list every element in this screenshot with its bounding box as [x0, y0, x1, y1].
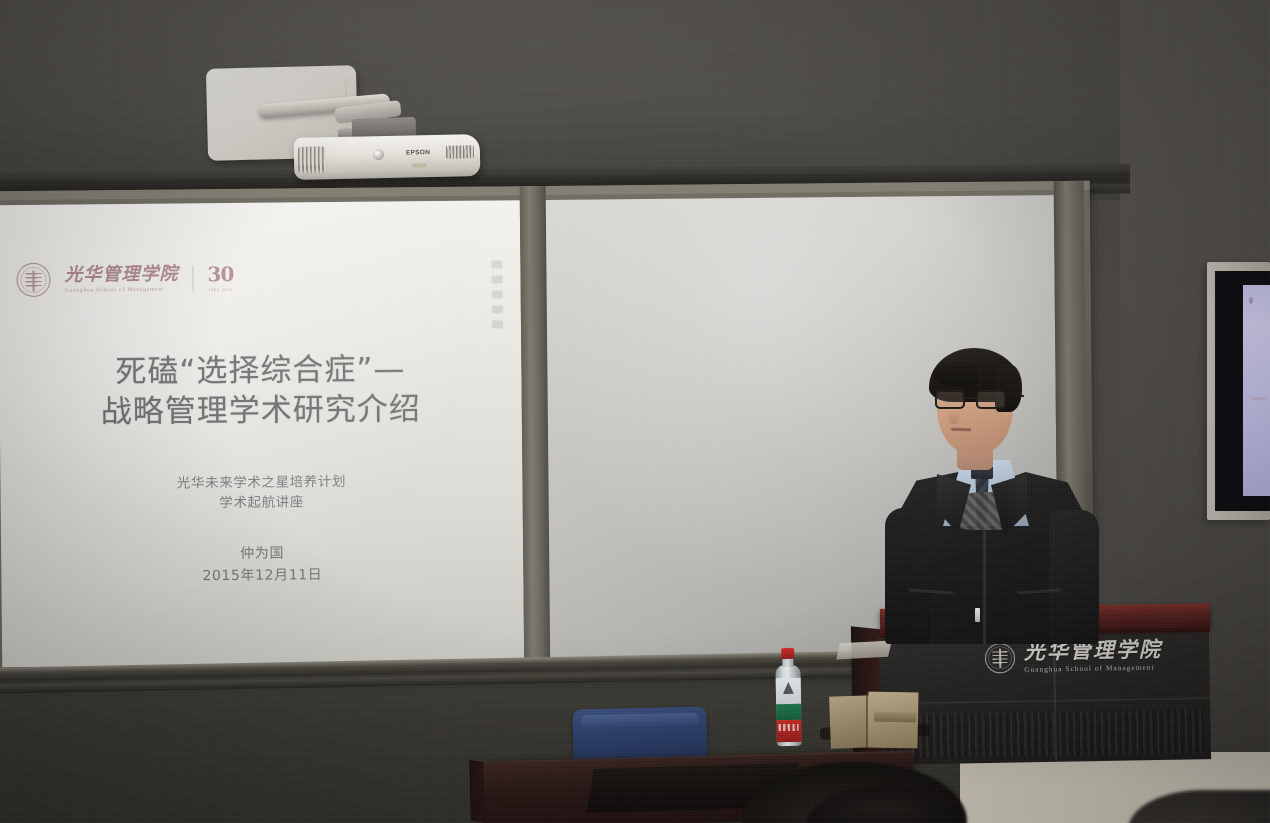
bottle-label-band	[776, 704, 801, 720]
slide-title-line2: 战略管理学术研究介绍	[14, 389, 508, 434]
podium-notes	[836, 641, 892, 660]
eyeglass-lens-left	[935, 390, 965, 409]
slide-footer: 仲为国 2015年12月11日	[1, 540, 523, 589]
podium-grille-icon	[884, 709, 1205, 759]
seal-ring	[20, 266, 46, 292]
eyeglass-bridge	[965, 397, 976, 399]
brand-wordmark: 光华管理学院 Guanghua School of Management	[64, 265, 178, 293]
slide-title-line1: 死磕“选择综合症”—	[13, 348, 507, 393]
eyeglasses-icon	[935, 390, 1015, 410]
wall-display-screen[interactable]	[1243, 285, 1270, 496]
vent-grille-icon	[298, 146, 327, 173]
cardboard-boxes	[830, 690, 926, 748]
presenter-coat-placket	[983, 522, 986, 644]
eyeglass-lens-right	[976, 390, 1006, 409]
presenter-nose	[949, 410, 959, 424]
slide-date: 2015年12月11日	[1, 562, 523, 589]
brand-name-cn: 光华管理学院	[64, 265, 178, 284]
display-artifact-line	[1252, 397, 1267, 400]
display-artifact-icon	[1249, 297, 1253, 304]
seal-ring	[988, 646, 1012, 670]
presenter-hair-fringe	[933, 362, 979, 386]
box-seam	[866, 694, 868, 748]
slide-subtitle: 光华未来学术之星培养计划 学术起航讲座	[0, 470, 522, 516]
anniversary-number: 30	[207, 264, 233, 284]
screen-mark	[491, 260, 502, 268]
slide-brand-header: 光华管理学院 Guanghua School of Management 30 …	[16, 261, 233, 297]
brand-separator	[192, 265, 193, 291]
projector: EPSON	[294, 134, 481, 180]
presenter	[885, 340, 1100, 640]
peking-university-seal-icon	[16, 263, 50, 297]
anniversary-mark: 30 1985-2015	[207, 264, 233, 292]
projector-lens-icon	[373, 149, 384, 160]
chair[interactable]	[572, 707, 707, 762]
peking-university-seal-icon	[985, 643, 1016, 674]
bottle-cap[interactable]	[781, 648, 794, 659]
screen-mark	[491, 305, 502, 313]
presenter-left-arm	[885, 508, 931, 644]
brand-name-en: Guanghua School of Management	[65, 286, 179, 293]
presenter-right-arm	[1049, 510, 1099, 644]
presentation-slide: 光华管理学院 Guanghua School of Management 30 …	[0, 200, 524, 667]
box-flap	[874, 712, 916, 723]
water-bottle[interactable]	[774, 648, 803, 746]
lecture-hall-photo: EPSON 光华管理学院 Guanghua School of Manageme…	[0, 0, 1270, 823]
presenter-pen	[975, 608, 980, 622]
screen-mark	[491, 290, 502, 298]
projector-side-grille-icon	[446, 145, 474, 159]
projector-sticker	[412, 163, 426, 167]
slide-title: 死磕“选择综合症”— 战略管理学术研究介绍	[0, 348, 522, 434]
bottle-brand-text	[778, 724, 798, 731]
screen-mark	[491, 275, 502, 283]
chair-highlight	[581, 713, 699, 729]
projector-brand-label: EPSON	[406, 149, 430, 157]
anniversary-years: 1985-2015	[208, 287, 234, 292]
slide-subtitle-line2: 学术起航讲座	[1, 490, 523, 515]
bottle-neck	[782, 658, 793, 667]
projection-screen: 光华管理学院 Guanghua School of Management 30 …	[0, 200, 524, 667]
screen-edge-markings	[488, 260, 505, 380]
screen-mark	[491, 320, 502, 328]
